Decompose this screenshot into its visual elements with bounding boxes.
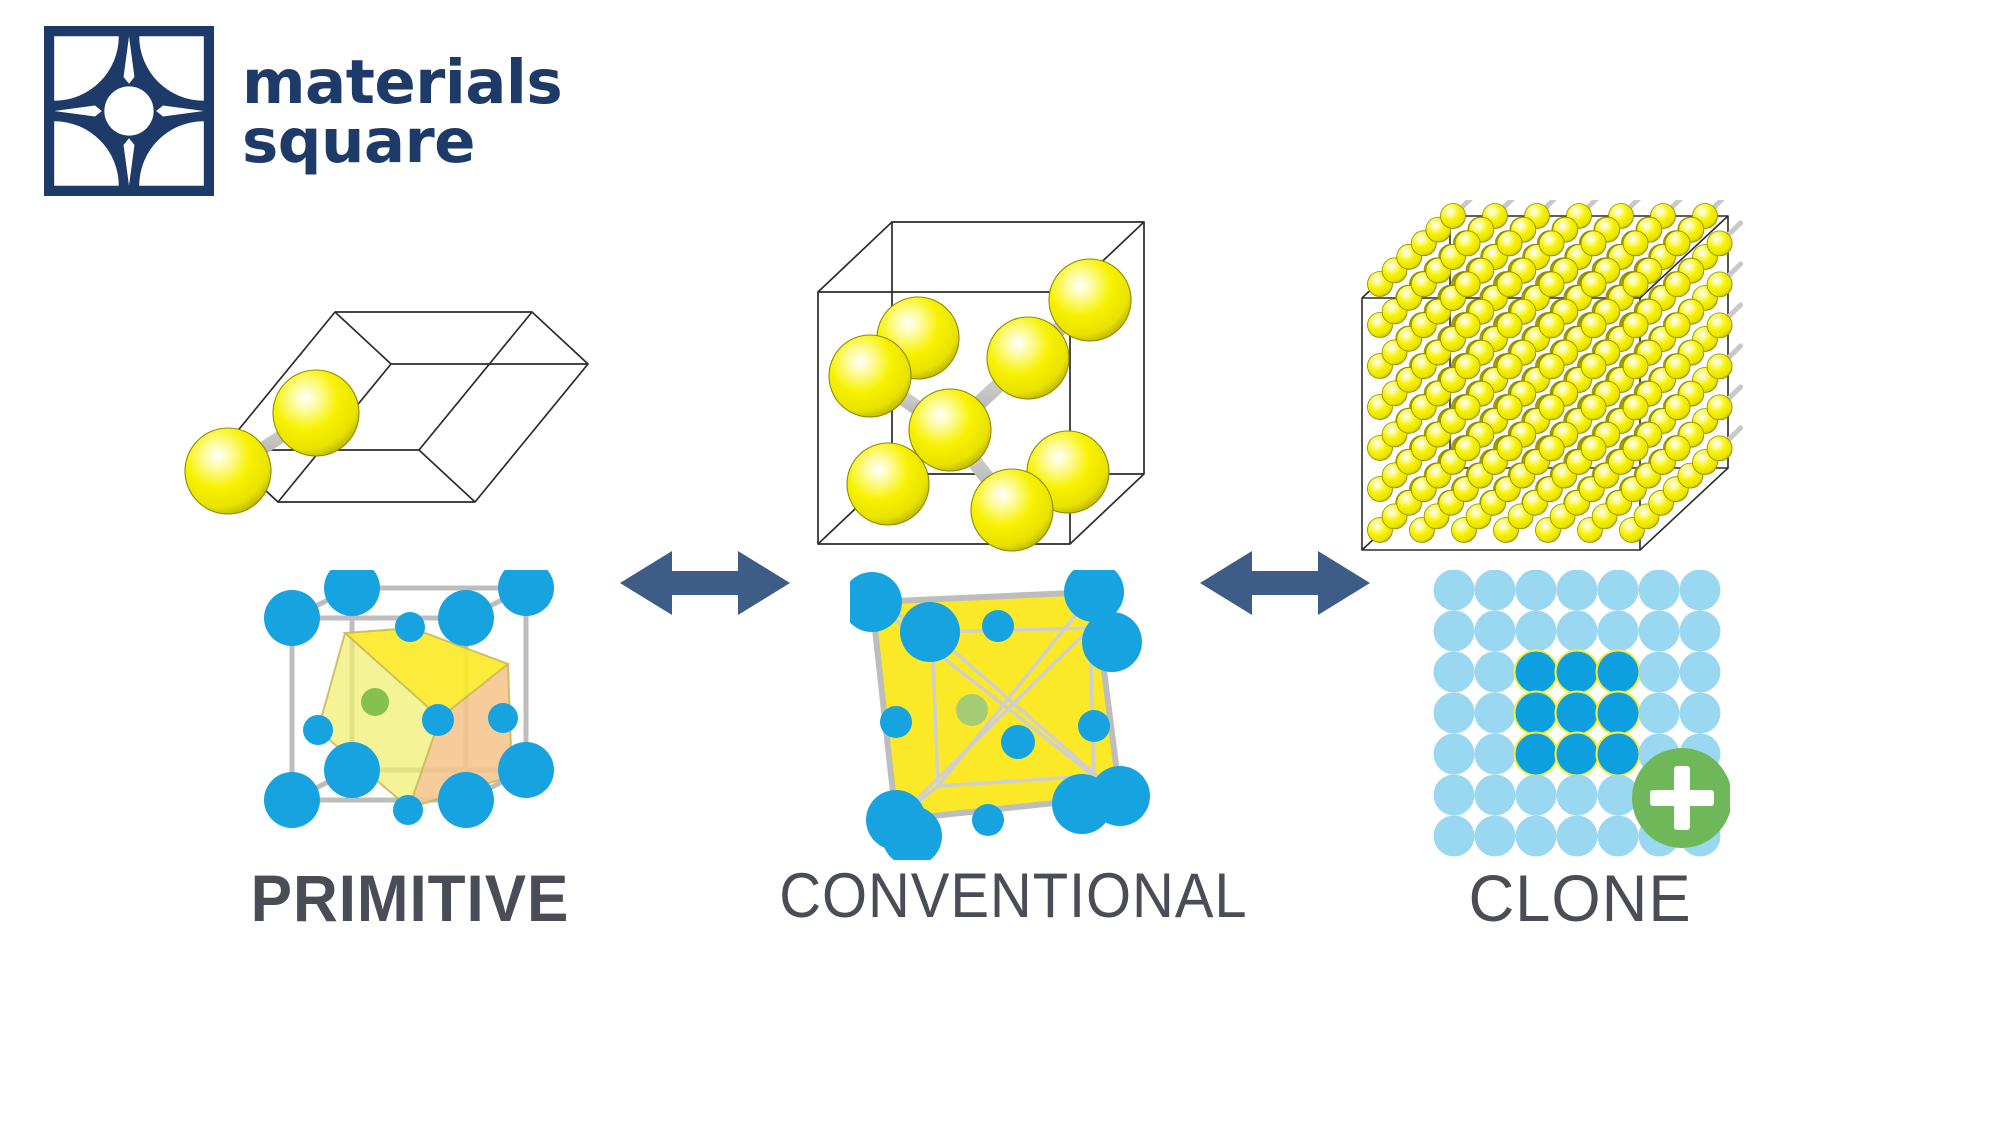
- materials-square-logo-icon: [44, 26, 214, 196]
- clone-cell: [1680, 652, 1721, 693]
- clone-cell-selected: [1557, 734, 1598, 775]
- center-atom-dot: [956, 694, 988, 726]
- clone-cell: [1475, 652, 1516, 693]
- clone-cell: [1434, 734, 1475, 775]
- clone-cell: [1516, 570, 1557, 611]
- clone-cell: [1475, 693, 1516, 734]
- clone-cell: [1639, 693, 1680, 734]
- brand-lockup: materials square: [44, 26, 562, 196]
- clone-cell: [1639, 652, 1680, 693]
- clone-cell-selected: [1598, 734, 1639, 775]
- clone-cell: [1475, 611, 1516, 652]
- clone-cell: [1598, 611, 1639, 652]
- clone-cell: [1516, 816, 1557, 857]
- clone-cell-selected: [1516, 693, 1557, 734]
- clone-cell: [1475, 816, 1516, 857]
- clone-cell: [1598, 816, 1639, 857]
- column-conventional[interactable]: CONVENTIONAL: [760, 200, 1240, 1060]
- center-atom-dot: [361, 688, 389, 716]
- clone-cell: [1434, 693, 1475, 734]
- clone-supercell-icon[interactable]: [1340, 570, 1820, 860]
- clone-cell: [1475, 775, 1516, 816]
- clone-cell: [1516, 775, 1557, 816]
- slide-canvas: materials square: [0, 0, 2000, 1125]
- clone-cell: [1598, 570, 1639, 611]
- clone-cell: [1680, 570, 1721, 611]
- clone-cell-selected: [1557, 693, 1598, 734]
- caption-primitive: PRIMITIVE: [184, 860, 635, 936]
- brand-wordmark: materials square: [242, 50, 562, 171]
- caption-conventional: CONVENTIONAL: [779, 860, 1221, 932]
- clone-cell: [1434, 775, 1475, 816]
- clone-cell: [1557, 775, 1598, 816]
- clone-cell-selected: [1557, 652, 1598, 693]
- arrow-primitive-conventional: [620, 547, 790, 619]
- column-primitive[interactable]: PRIMITIVE: [170, 200, 650, 1060]
- column-clone[interactable]: CLONE: [1340, 200, 1820, 1060]
- clone-cell: [1680, 611, 1721, 652]
- clone-cell: [1639, 570, 1680, 611]
- brand-line-1: materials: [242, 54, 562, 113]
- clone-cell: [1434, 652, 1475, 693]
- primitive-cell-3d-model[interactable]: [170, 200, 650, 560]
- double-arrow-horizontal-icon: [1200, 547, 1370, 619]
- conventional-cell-icon[interactable]: [760, 570, 1240, 860]
- clone-cell: [1516, 611, 1557, 652]
- cell-type-row: PRIMITIVE: [0, 200, 2000, 1060]
- clone-cell-selected: [1598, 693, 1639, 734]
- brand-line-2: square: [242, 113, 562, 172]
- clone-cell: [1557, 816, 1598, 857]
- clone-cell-selected: [1516, 652, 1557, 693]
- clone-cell: [1639, 611, 1680, 652]
- double-arrow-horizontal-icon: [620, 547, 790, 619]
- clone-cell: [1475, 734, 1516, 775]
- clone-cell: [1557, 611, 1598, 652]
- clone-cell: [1434, 570, 1475, 611]
- clone-cell: [1434, 611, 1475, 652]
- clone-cell-selected: [1598, 652, 1639, 693]
- clone-cell: [1680, 693, 1721, 734]
- clone-cell: [1557, 570, 1598, 611]
- clone-cell: [1475, 570, 1516, 611]
- caption-clone: CLONE: [1350, 860, 1811, 936]
- clone-cell: [1434, 816, 1475, 857]
- arrow-conventional-clone: [1200, 547, 1370, 619]
- clone-cell-selected: [1516, 734, 1557, 775]
- clone-supercell-3d-model[interactable]: [1340, 200, 1820, 560]
- primitive-cell-icon[interactable]: [170, 570, 650, 860]
- conventional-cell-3d-model[interactable]: [760, 200, 1240, 560]
